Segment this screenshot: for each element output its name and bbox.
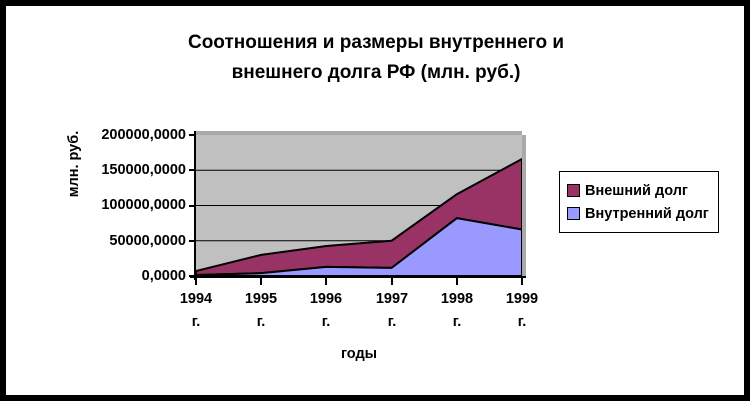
x-tick-mark	[260, 278, 262, 285]
x-tick-label-1999: 1999 г.	[487, 288, 557, 334]
x-tick-label-year: 1998	[422, 288, 492, 311]
x-tick-label-suffix: г.	[422, 311, 492, 334]
legend-item-internal-debt: Внутренний долг	[567, 202, 709, 225]
legend-label: Внешний долг	[585, 184, 688, 198]
legend-item-external-debt: Внешний долг	[567, 179, 709, 202]
y-tick-label: 200000,0000	[66, 128, 186, 142]
y-tick-label: 50000,0000	[66, 234, 186, 248]
x-tick-label-year: 1995	[226, 288, 296, 311]
x-tick-label-suffix: г.	[357, 311, 427, 334]
y-tick-label: 0,0000	[66, 269, 186, 283]
stacked-area-plot	[196, 135, 522, 276]
legend-label: Внутренний долг	[585, 207, 709, 221]
x-tick-label-year: 1994	[161, 288, 231, 311]
x-tick-label-1995: 1995 г.	[226, 288, 296, 334]
x-tick-label-suffix: г.	[161, 311, 231, 334]
x-tick-label-suffix: г.	[487, 311, 557, 334]
x-tick-label-year: 1996	[291, 288, 361, 311]
y-tick-label: 150000,0000	[66, 163, 186, 177]
chart-title-line-1: Соотношения и размеры внутреннего и	[188, 32, 564, 53]
x-tick-label-1994: 1994 г.	[161, 288, 231, 334]
legend-swatch-icon	[567, 207, 580, 220]
y-tick-label: 100000,0000	[66, 198, 186, 212]
x-tick-label-year: 1997	[357, 288, 427, 311]
x-tick-mark	[521, 278, 523, 285]
x-tick-label-1996: 1996 г.	[291, 288, 361, 334]
x-tick-label-1998: 1998 г.	[422, 288, 492, 334]
x-axis-line	[190, 276, 526, 278]
chart-screenshot: Соотношения и размеры внутреннего и внеш…	[0, 0, 750, 401]
x-axis-title: годы	[196, 346, 522, 362]
x-tick-label-1997: 1997 г.	[357, 288, 427, 334]
x-tick-label-suffix: г.	[291, 311, 361, 334]
x-tick-mark	[391, 278, 393, 285]
x-tick-mark	[456, 278, 458, 285]
x-tick-mark	[195, 278, 197, 285]
y-axis-line	[194, 131, 196, 280]
legend-swatch-icon	[567, 184, 580, 197]
x-tick-label-year: 1999	[487, 288, 557, 311]
chart-legend: Внешний долг Внутренний долг	[559, 171, 719, 233]
x-tick-label-suffix: г.	[226, 311, 296, 334]
x-tick-mark	[325, 278, 327, 285]
y-axis-tick-labels: 200000,0000 150000,0000 100000,0000 5000…	[66, 6, 186, 401]
plot-area	[196, 135, 522, 276]
plot-area-right-shadow	[522, 135, 526, 276]
